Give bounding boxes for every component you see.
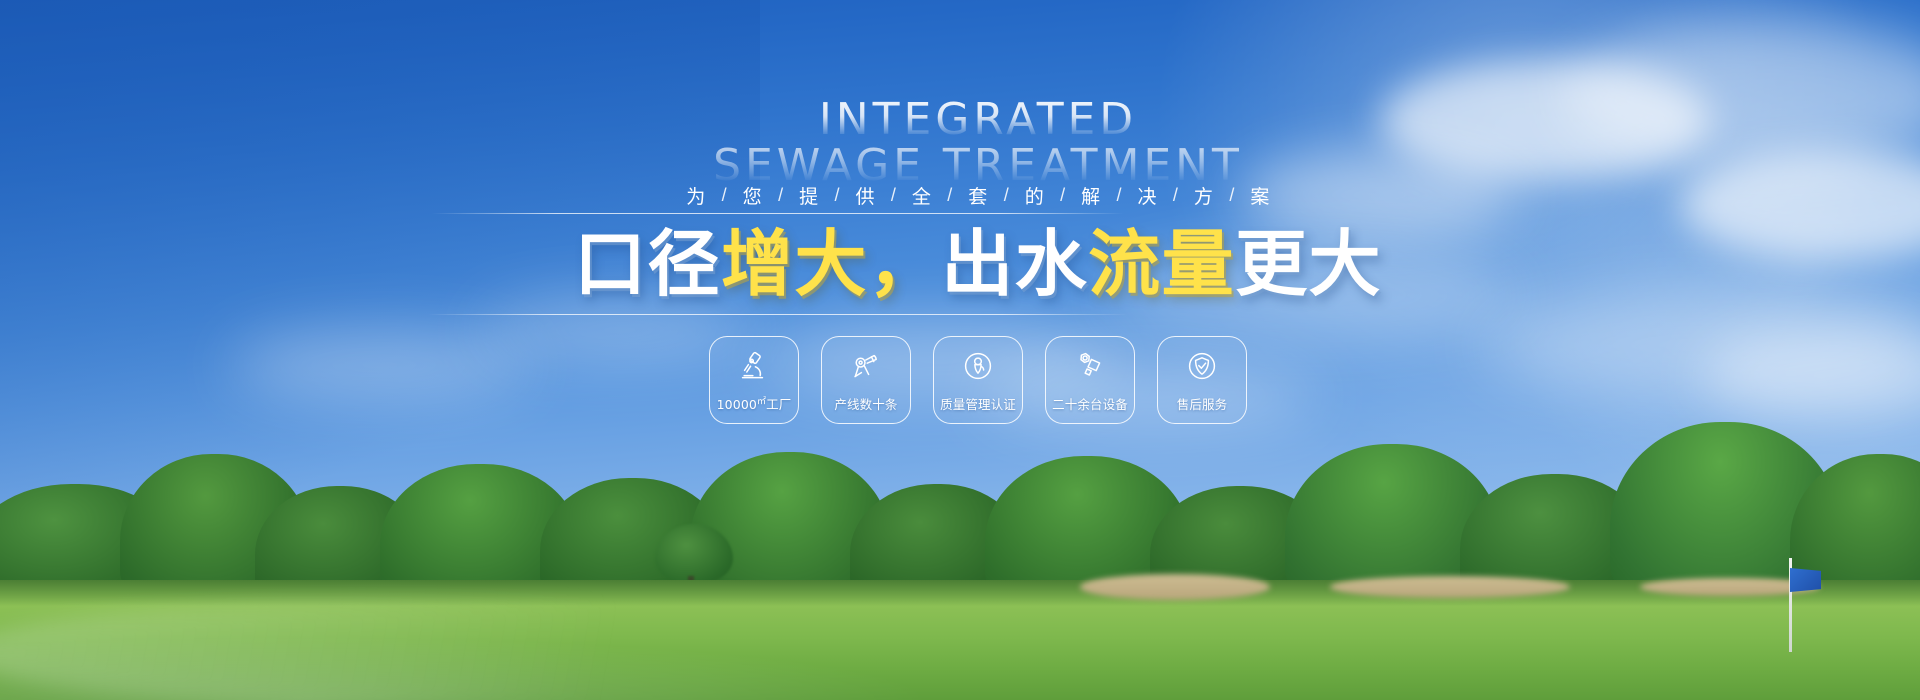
page-title-segment: 增大 (721, 222, 868, 306)
tagline-char: 您 (743, 182, 762, 209)
tagline: 为/您/提/供/全/套/的/解/决/方/案 (18, 182, 1920, 209)
grass-foreground (0, 580, 1920, 700)
tagline-char: 案 (1250, 182, 1269, 209)
tagline-separator: / (778, 185, 783, 206)
tagline-char: 解 (1081, 182, 1100, 209)
feature-badge-label: 二十余台设备 (1052, 394, 1128, 413)
tagline-char: 提 (799, 182, 818, 209)
feature-badge-3[interactable]: 质量管理认证 (933, 336, 1023, 424)
hero-banner: INTEGRATED SEWAGE TREATMENT 为/您/提/供/全/套/… (0, 0, 1920, 700)
tagline-char: 的 (1025, 182, 1044, 209)
tagline-char: 供 (855, 182, 874, 209)
page-title-segment: 流量 (1088, 222, 1235, 306)
divider-bottom (428, 314, 1128, 315)
tagline-separator: / (1117, 185, 1122, 206)
tagline-separator: / (1004, 185, 1009, 206)
english-headline-line-1: INTEGRATED (18, 98, 1920, 142)
tagline-separator: / (947, 185, 952, 206)
feature-badge-label-unit: ㎡ (757, 397, 766, 407)
feature-badge-label: 产线数十条 (834, 394, 897, 413)
feature-badge-2[interactable]: 产线数十条 (821, 336, 911, 424)
feature-badge-4[interactable]: 二十余台设备 (1045, 336, 1135, 424)
feature-badge-label: 售后服务 (1177, 394, 1228, 413)
tagline-char: 决 (1138, 182, 1157, 209)
equipment-bolt-icon (1074, 350, 1106, 382)
microscope-icon (738, 350, 770, 382)
tagline-char: 方 (1194, 182, 1213, 209)
fairway-tree (655, 524, 733, 584)
quality-certificate-icon (962, 350, 994, 382)
page-title-segment: ， (868, 222, 941, 306)
tagline-separator: / (1060, 185, 1065, 206)
production-line-icon (850, 350, 882, 382)
shield-check-icon (1186, 350, 1218, 382)
feature-badge-label-prefix: 10000 (717, 397, 757, 412)
page-title-segment: 出水 (941, 222, 1088, 306)
feature-badge-5[interactable]: 售后服务 (1157, 336, 1247, 424)
tagline-char: 套 (968, 182, 987, 209)
feature-badge-label-suffix: 工厂 (766, 397, 791, 412)
english-headline: INTEGRATED SEWAGE TREATMENT (18, 98, 1920, 188)
tagline-separator: / (722, 185, 727, 206)
tagline-char: 为 (686, 182, 705, 209)
feature-badge-label: 质量管理认证 (940, 394, 1016, 413)
flag-cloth (1790, 568, 1821, 592)
tagline-char: 全 (912, 182, 931, 209)
tagline-separator: / (834, 185, 839, 206)
page-title-segment: 更大 (1235, 222, 1382, 306)
tagline-separator: / (891, 185, 896, 206)
page-title: 口径增大，出水流量更大 (18, 228, 1920, 300)
page-title-segment: 口径 (574, 222, 721, 306)
feature-badge-label: 10000㎡工厂 (717, 394, 792, 413)
feature-badge-1[interactable]: 10000㎡工厂 (709, 336, 799, 424)
divider-top (432, 213, 1124, 214)
feature-badge-list: 10000㎡工厂产线数十条质量管理认证二十余台设备售后服务 (18, 336, 1920, 424)
tagline-separator: / (1173, 185, 1178, 206)
tagline-separator: / (1229, 185, 1234, 206)
